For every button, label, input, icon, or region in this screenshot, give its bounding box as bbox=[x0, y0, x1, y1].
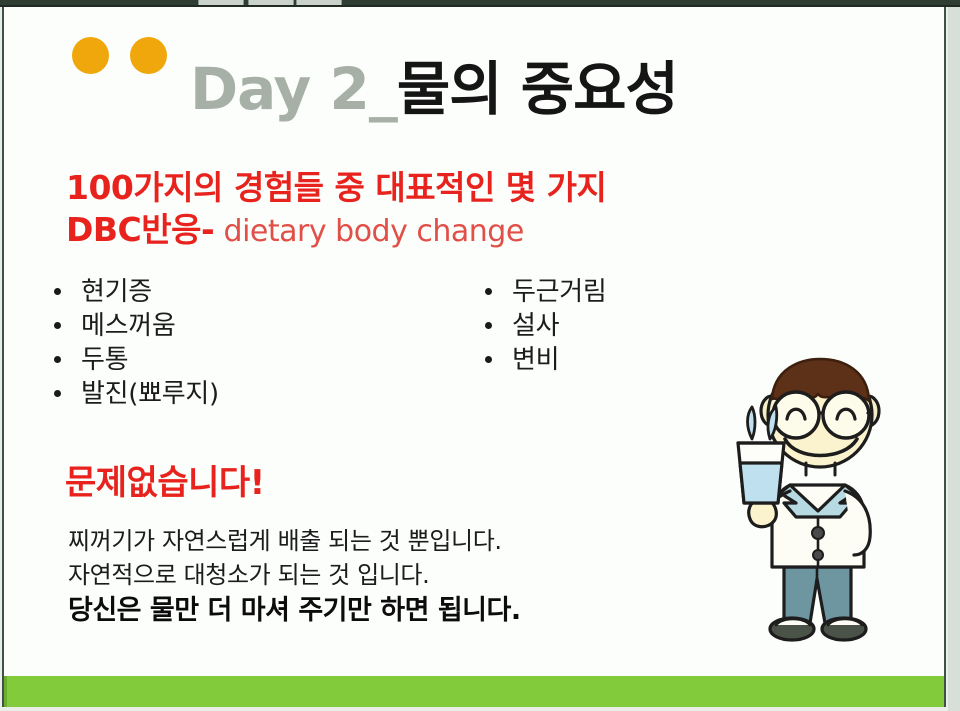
page-title-main: 물의 중요성 bbox=[397, 55, 678, 123]
list-item: 두통 bbox=[54, 347, 219, 381]
list-item-label: 설사 bbox=[512, 313, 559, 339]
header-dots bbox=[72, 37, 167, 74]
closing-line-2: 자연적으로 대청소가 되는 것 입니다. bbox=[68, 558, 521, 592]
list-item: 메스꺼움 bbox=[54, 313, 219, 347]
list-item-label: 변비 bbox=[512, 347, 559, 373]
closing-line-1: 찌꺼기가 자연스럽게 배출 되는 것 뿐입니다. bbox=[68, 524, 521, 558]
list-item-label: 두근거림 bbox=[512, 279, 606, 305]
slide-frame: Day 2_물의 중요성 100가지의 경험들 중 대표적인 몇 가지 DBC반… bbox=[2, 7, 946, 707]
footer-green-band-edge bbox=[4, 676, 7, 707]
orange-dot-icon bbox=[130, 37, 167, 74]
list-item-label: 메스꺼움 bbox=[81, 313, 175, 339]
bullet-dot-icon bbox=[485, 288, 492, 295]
list-item-label: 발진(뾰루지) bbox=[81, 381, 219, 407]
page-title-prefix: Day 2_ bbox=[190, 55, 397, 123]
headline-dbc-label: DBC반응- bbox=[66, 210, 214, 249]
headline-block: 100가지의 경험들 중 대표적인 몇 가지 DBC반응- dietary bo… bbox=[66, 167, 606, 252]
boy-with-water-glass-icon bbox=[722, 351, 932, 657]
bullet-dot-icon bbox=[54, 288, 61, 295]
page-title: Day 2_물의 중요성 bbox=[190, 60, 678, 118]
closing-paragraph: 찌꺼기가 자연스럽게 배출 되는 것 뿐입니다. 자연적으로 대청소가 되는 것… bbox=[68, 524, 521, 630]
symptom-list-right: 두근거림 설사 변비 bbox=[485, 279, 606, 381]
list-item: 발진(뾰루지) bbox=[54, 381, 219, 415]
bullet-dot-icon bbox=[485, 322, 492, 329]
headline-line-2: DBC반응- dietary body change bbox=[66, 209, 606, 252]
headline-line-1: 100가지의 경험들 중 대표적인 몇 가지 bbox=[66, 167, 606, 209]
orange-dot-icon bbox=[72, 37, 109, 74]
right-gutter bbox=[948, 7, 960, 711]
headline-dbc-expansion: dietary body change bbox=[224, 214, 524, 249]
bullet-dot-icon bbox=[54, 390, 61, 397]
list-item-label: 현기증 bbox=[81, 279, 152, 305]
bullet-dot-icon bbox=[54, 356, 61, 363]
bullet-dot-icon bbox=[485, 356, 492, 363]
closing-line-3: 당신은 물만 더 마셔 주기만 하면 됩니다. bbox=[68, 592, 521, 630]
bullet-dot-icon bbox=[54, 322, 61, 329]
list-item: 변비 bbox=[485, 347, 606, 381]
slide-screenshot: Day 2_물의 중요성 100가지의 경험들 중 대표적인 몇 가지 DBC반… bbox=[0, 0, 960, 711]
list-item: 설사 bbox=[485, 313, 606, 347]
list-item-label: 두통 bbox=[81, 347, 128, 373]
slide-content-area: Day 2_물의 중요성 100가지의 경험들 중 대표적인 몇 가지 DBC반… bbox=[4, 7, 944, 675]
footer-green-band bbox=[4, 676, 944, 707]
symptom-list-left: 현기증 메스꺼움 두통 발진(뾰루지) bbox=[54, 279, 219, 415]
list-item: 현기증 bbox=[54, 279, 219, 313]
list-item: 두근거림 bbox=[485, 279, 606, 313]
callout-text: 문제없습니다! bbox=[65, 455, 265, 504]
